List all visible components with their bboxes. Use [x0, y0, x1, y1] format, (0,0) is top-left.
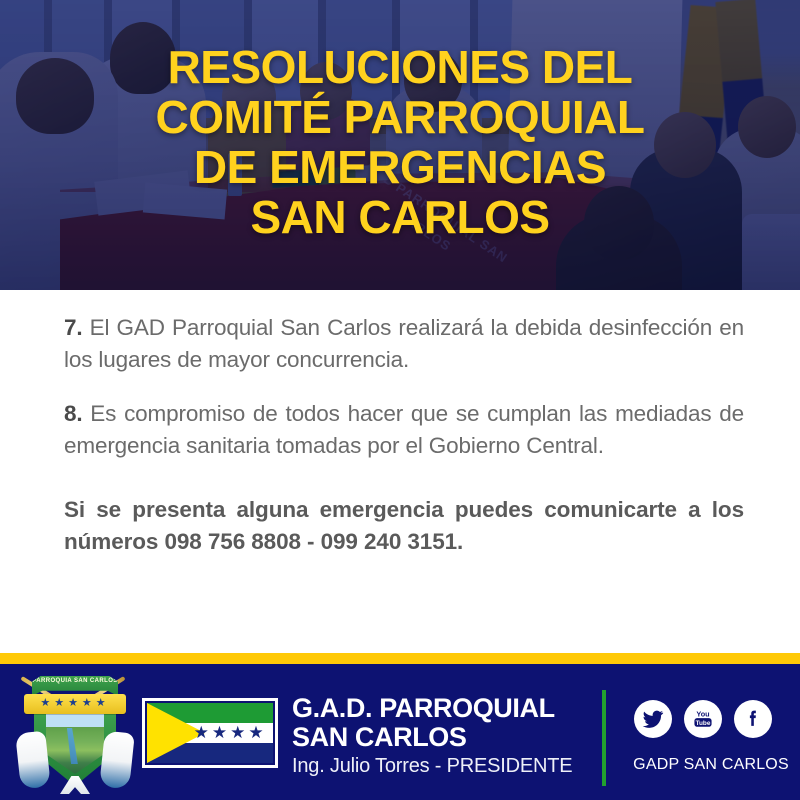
poster-root: GAD PARROQUIAL SAN CARLOS RESOLUCIONES D…	[0, 0, 800, 800]
organization-name-line-2: SAN CARLOS	[292, 723, 572, 752]
organization-president: Ing. Julio Torres - PRESIDENTE	[292, 753, 572, 779]
resolution-item-7-number: 7.	[64, 315, 82, 340]
twitter-icon[interactable]	[634, 700, 672, 738]
svg-text:Tube: Tube	[696, 720, 711, 727]
crest-drape-left	[15, 731, 51, 790]
page-title-line-2: COMITÉ PARROQUIAL	[26, 92, 774, 142]
facebook-icon[interactable]	[734, 700, 772, 738]
page-title: RESOLUCIONES DEL COMITÉ PARROQUIAL DE EM…	[0, 42, 800, 242]
coat-of-arms-icon: PARROQUIA SAN CARLOS ★★★★★	[20, 668, 130, 796]
footer-divider	[602, 690, 606, 786]
flag-san-carlos-icon: ★★★★	[142, 698, 278, 768]
crest-star-banner: ★★★★★	[24, 694, 126, 714]
crest-drape-right	[99, 731, 135, 790]
social-label: GADP SAN CARLOS	[628, 756, 794, 774]
crest-base	[60, 776, 90, 794]
page-title-line-3: DE EMERGENCIAS	[26, 142, 774, 192]
organization-name-line-1: G.A.D. PARROQUIAL	[292, 694, 572, 723]
flag-inner: ★★★★	[147, 703, 273, 763]
resolutions-body: 7. El GAD Parroquial San Carlos realizar…	[0, 290, 800, 653]
hero-header: GAD PARROQUIAL SAN CARLOS RESOLUCIONES D…	[0, 0, 800, 290]
crest-ribbon-text: PARROQUIA SAN CARLOS	[32, 678, 118, 685]
resolution-item-8-text: Es compromiso de todos hacer que se cump…	[64, 401, 744, 458]
flag-stars: ★★★★	[190, 723, 271, 743]
crest-stars: ★★★★★	[24, 697, 126, 709]
resolution-item-8: 8. Es compromiso de todos hacer que se c…	[64, 398, 744, 462]
social-links: You Tube	[634, 700, 772, 738]
organization-block: G.A.D. PARROQUIAL SAN CARLOS Ing. Julio …	[292, 694, 572, 779]
resolution-item-7: 7. El GAD Parroquial San Carlos realizar…	[64, 312, 744, 376]
resolution-item-8-number: 8.	[64, 401, 82, 426]
yellow-divider-stripe	[0, 653, 800, 664]
svg-text:You: You	[696, 709, 709, 718]
emergency-contact-note: Si se presenta alguna emergencia puedes …	[64, 494, 744, 558]
youtube-icon[interactable]: You Tube	[684, 700, 722, 738]
page-title-line-1: RESOLUCIONES DEL	[26, 42, 774, 92]
resolution-item-7-text: El GAD Parroquial San Carlos realizará l…	[64, 315, 744, 372]
page-title-line-4: SAN CARLOS	[26, 192, 774, 242]
